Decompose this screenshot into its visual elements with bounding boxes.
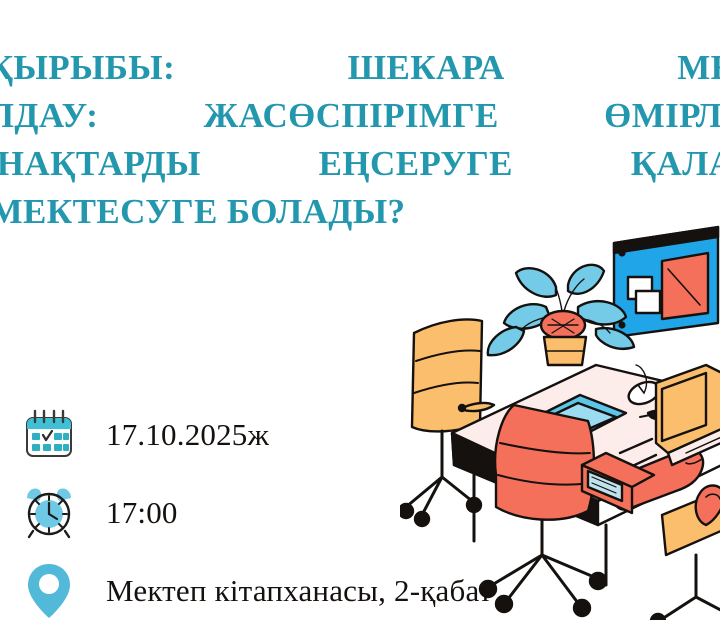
- title-line-4: ӨМЕКТЕСУГЕ БОЛАДЫ?: [0, 188, 720, 236]
- office-chair-coral: [480, 405, 606, 616]
- pencil-case: [613, 449, 703, 510]
- detail-row-date: 17.10.2025ж: [18, 396, 492, 474]
- desk-items: [459, 365, 720, 510]
- title-line-2: ОЛДАУ: ЖАСӨСПІРІМГЕ ӨМІРЛІК: [0, 92, 720, 140]
- potted-plant: [488, 265, 634, 365]
- laptop: [656, 365, 720, 465]
- poster-title: АҚЫРЫБЫ: ШЕКАРА МЕН ОЛДАУ: ЖАСӨСПІРІМГЕ …: [0, 44, 720, 236]
- detail-row-place: Мектеп кітапханасы, 2-қабат: [18, 552, 492, 620]
- title-line-3: ЫНАҚТАРДЫ ЕҢСЕРУГЕ ҚАЛАЙ: [0, 140, 720, 188]
- event-time: 17:00: [106, 495, 178, 531]
- detail-row-time: 17:00: [18, 474, 492, 552]
- alarm-clock-icon: [18, 482, 80, 544]
- bulletin-board: [614, 227, 718, 337]
- event-date: 17.10.2025ж: [106, 417, 269, 453]
- calendar-icon: [18, 404, 80, 466]
- event-details: 17.10.2025ж: [18, 396, 492, 620]
- event-place: Мектеп кітапханасы, 2-қабат: [106, 573, 492, 609]
- side-table: [651, 486, 720, 620]
- title-line-1: АҚЫРЫБЫ: ШЕКАРА МЕН: [0, 44, 720, 92]
- books: [582, 453, 654, 513]
- location-pin-icon: [18, 560, 80, 620]
- poster-canvas: АҚЫРЫБЫ: ШЕКАРА МЕН ОЛДАУ: ЖАСӨСПІРІМГЕ …: [0, 0, 720, 620]
